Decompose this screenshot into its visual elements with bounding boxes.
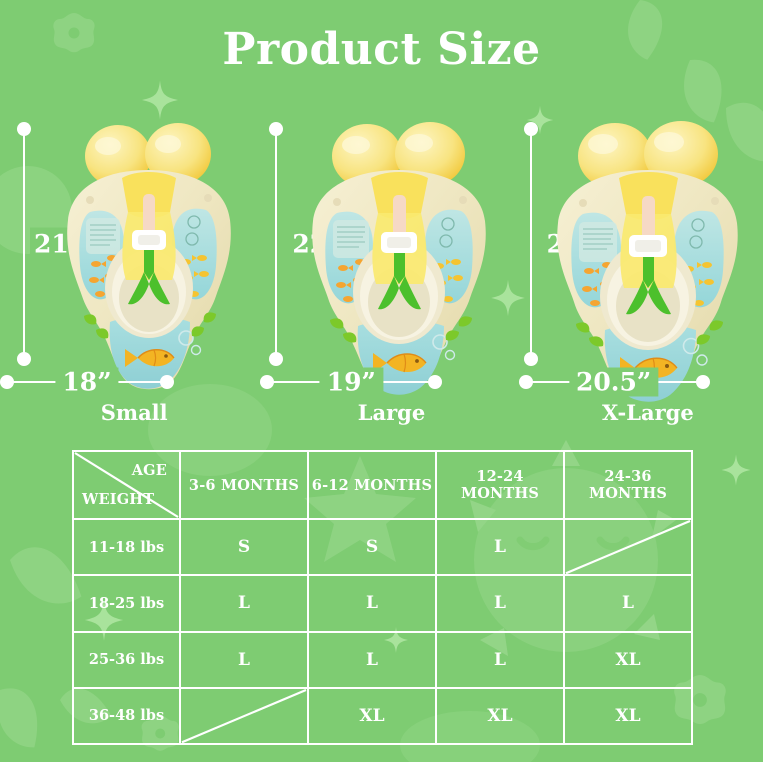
size-cell-1-1: L (308, 575, 436, 631)
size-cell-0-3-empty (564, 519, 692, 575)
measure-line-vertical (530, 128, 532, 360)
weight-label-0: 11-18 lbs (73, 519, 180, 575)
age-column-header-1: 6-12 MONTHS (308, 451, 436, 519)
page-title: Product Size (0, 24, 763, 75)
weight-label-3: 36-48 lbs (73, 688, 180, 744)
age-axis-label: AGE (132, 462, 167, 479)
weight-label-1: 18-25 lbs (73, 575, 180, 631)
width-label-small: 18” (55, 368, 118, 397)
measure-line-vertical (275, 128, 277, 360)
size-name-xlarge: X-Large (509, 400, 763, 425)
measure-dot-bottom (17, 352, 31, 366)
age-weight-corner-cell: AGE WEIGHT (73, 451, 180, 519)
diagonal-slash-icon (181, 689, 307, 743)
weight-label-2: 25-36 lbs (73, 632, 180, 688)
width-measure-small: 18” (0, 370, 254, 394)
product-size-row: 21.6” (0, 108, 763, 428)
weight-axis-label: WEIGHT (82, 491, 154, 508)
size-cell-1-0: L (180, 575, 308, 631)
age-column-header-2: 12-24 MONTHS (436, 451, 564, 519)
table-row: 25-36 lbs L L L XL (73, 632, 692, 688)
table-row: 11-18 lbs S S L (73, 519, 692, 575)
table-row: 18-25 lbs L L L L (73, 575, 692, 631)
size-cell-2-0: L (180, 632, 308, 688)
measure-dot-bottom (524, 352, 538, 366)
size-cell-0-0: S (180, 519, 308, 575)
measure-line-vertical (23, 128, 25, 360)
size-cell-3-2: XL (436, 688, 564, 744)
diagonal-slash-icon (565, 520, 691, 574)
size-name-small: Small (0, 400, 254, 425)
size-cell-2-2: L (436, 632, 564, 688)
size-cell-2-1: L (308, 632, 436, 688)
product-small: 21.6” (0, 108, 254, 428)
measure-dot-right (160, 375, 174, 389)
width-measure-xlarge: 20.5” (509, 370, 763, 394)
size-cell-2-3: XL (564, 632, 692, 688)
measure-dot-bottom (269, 352, 283, 366)
table-row: 36-48 lbs XL XL XL (73, 688, 692, 744)
size-cell-0-1: S (308, 519, 436, 575)
measure-dot-right (428, 375, 442, 389)
age-column-header-3: 24-36 MONTHS (564, 451, 692, 519)
product-xlarge: 23” (509, 108, 763, 428)
table-header-row: AGE WEIGHT 3-6 MONTHS 6-12 MONTHS 12-24 … (73, 451, 692, 519)
product-large: 22.4” (254, 108, 508, 428)
size-cell-1-2: L (436, 575, 564, 631)
width-measure-large: 19” (254, 370, 508, 394)
size-cell-0-2: L (436, 519, 564, 575)
size-cell-1-3: L (564, 575, 692, 631)
size-cell-3-1: XL (308, 688, 436, 744)
width-label-large: 19” (320, 368, 383, 397)
size-chart-table: AGE WEIGHT 3-6 MONTHS 6-12 MONTHS 12-24 … (72, 450, 693, 745)
age-column-header-0: 3-6 MONTHS (180, 451, 308, 519)
size-cell-3-3: XL (564, 688, 692, 744)
size-name-large: Large (254, 400, 508, 425)
width-label-xlarge: 20.5” (569, 368, 658, 397)
size-cell-3-0-empty (180, 688, 308, 744)
measure-dot-right (696, 375, 710, 389)
